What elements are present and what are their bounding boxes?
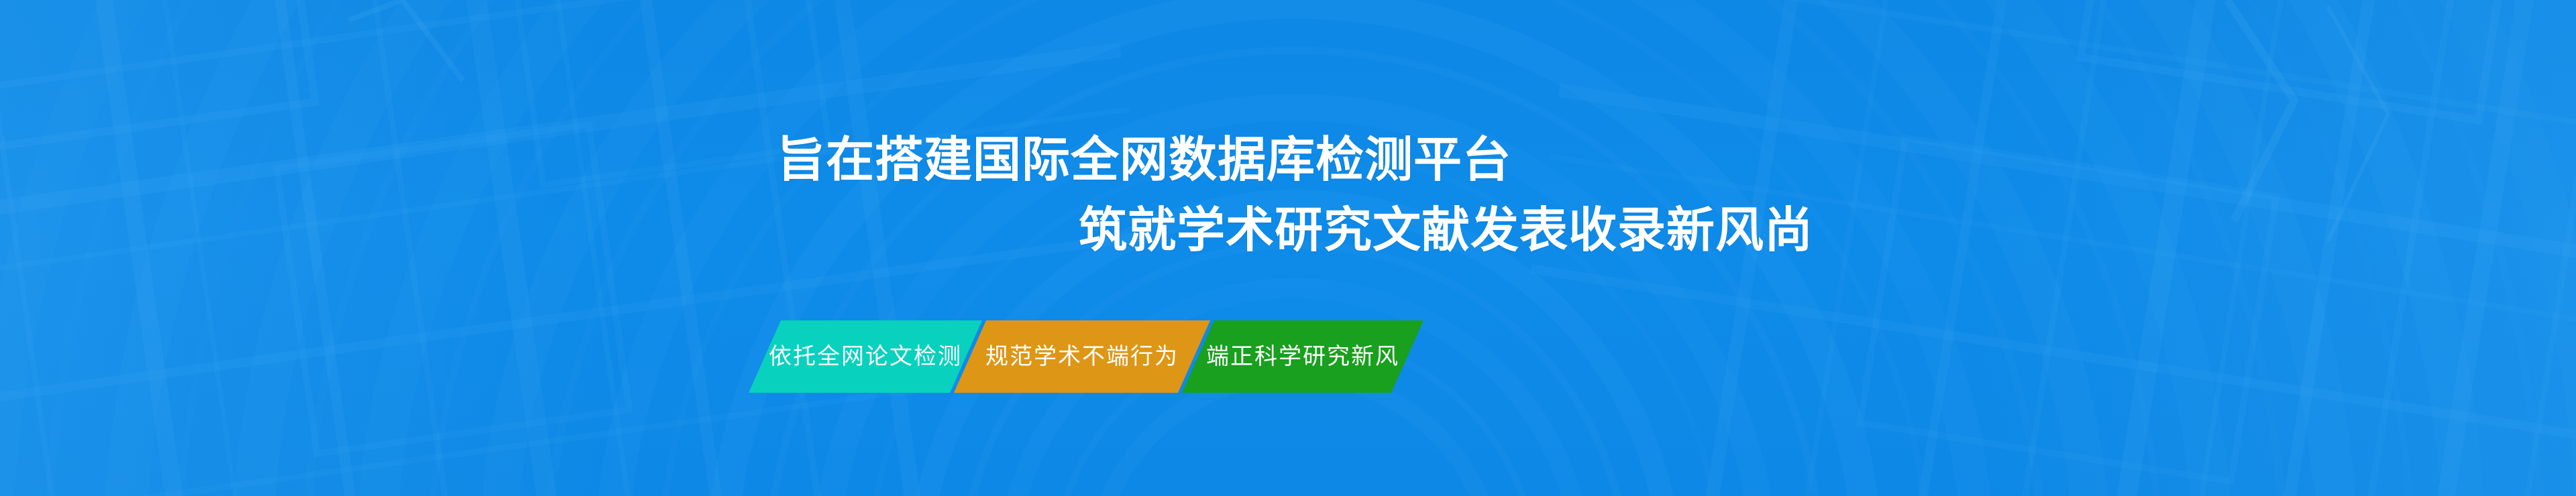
- feature-tag-strip: 依托全网论文检测 规范学术不端行为 端正科学研究新风: [765, 320, 1407, 393]
- feature-tag-0-label: 依托全网论文检测: [769, 345, 962, 368]
- feature-tag-2-label: 端正科学研究新风: [1206, 345, 1399, 368]
- feature-tag-1[interactable]: 规范学术不端行为: [954, 320, 1210, 393]
- feature-tag-2[interactable]: 端正科学研究新风: [1182, 320, 1424, 393]
- feature-tag-0[interactable]: 依托全网论文检测: [749, 320, 982, 393]
- background-sheen-layer: [0, 0, 2576, 496]
- feature-tag-1-label: 规范学术不端行为: [985, 345, 1179, 368]
- promo-banner: 旨在搭建国际全网数据库检测平台 筑就学术研究文献发表收录新风尚 依托全网论文检测…: [0, 0, 2576, 496]
